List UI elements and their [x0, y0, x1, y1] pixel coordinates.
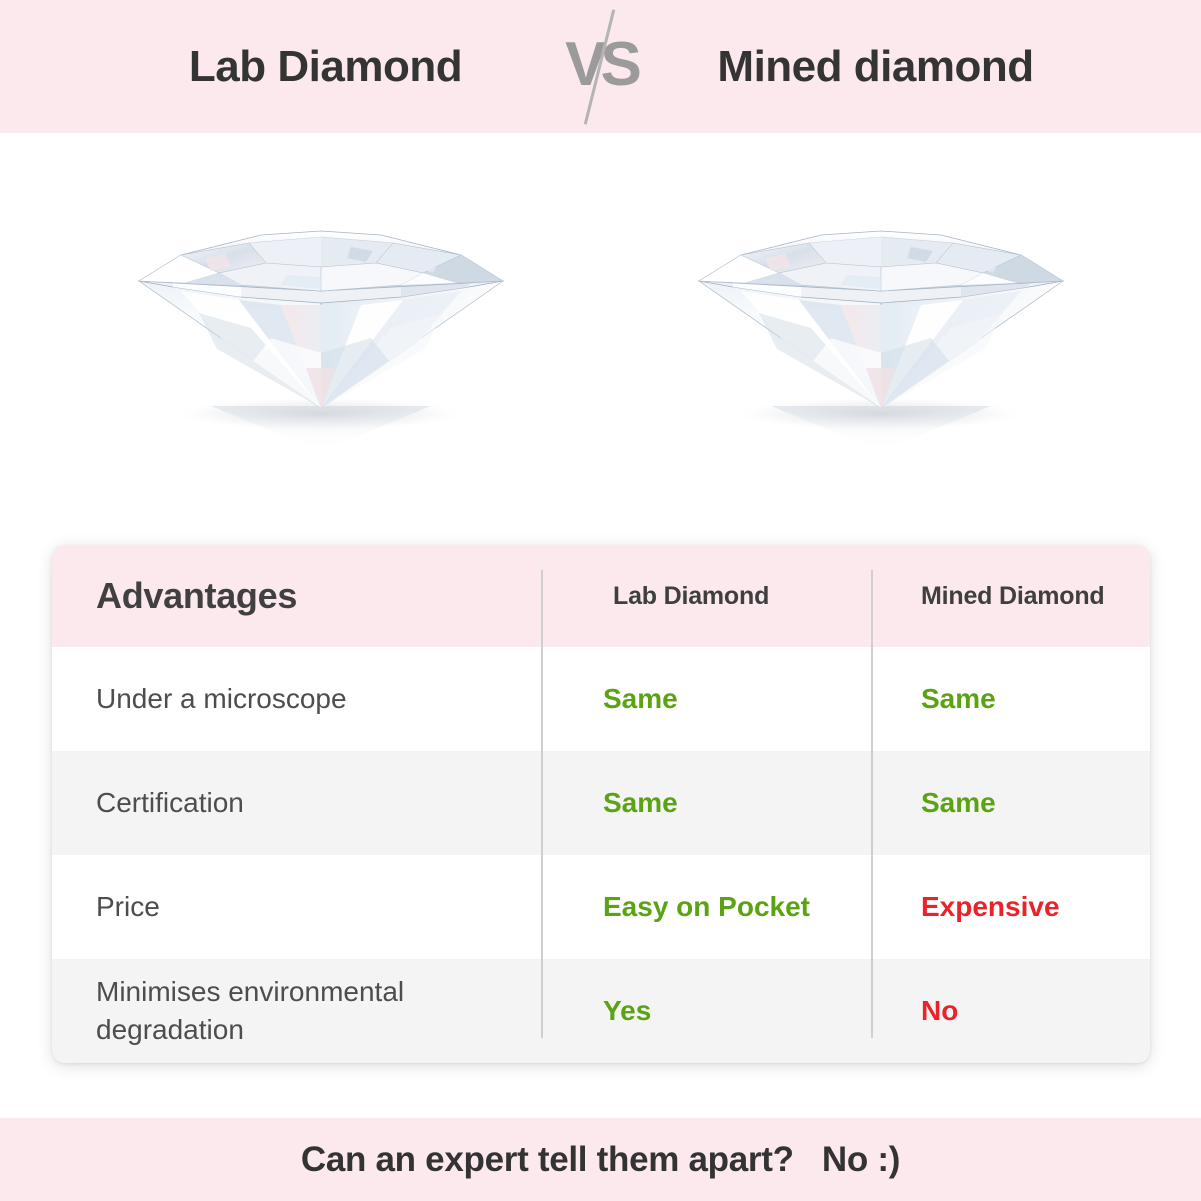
row-lab-value-cell: Same — [541, 787, 871, 819]
table-row: Certification Same Same — [52, 751, 1150, 855]
row-mined-value-cell: Expensive — [871, 891, 1150, 923]
mined-diamond-image-cell — [601, 133, 1161, 533]
page-footer-band: Can an expert tell them apart? No :) — [0, 1118, 1201, 1201]
header-cell-advantages: Advantages — [52, 575, 541, 617]
table-row: Under a microscope Same Same — [52, 647, 1150, 751]
row-label: Price — [96, 891, 160, 922]
row-lab-value: Same — [603, 787, 678, 818]
lab-diamond-title: Lab Diamond — [111, 42, 541, 92]
mined-diamond-icon — [681, 163, 1081, 453]
table-row: Price Easy on Pocket Expensive — [52, 855, 1150, 959]
header-label-lab-diamond: Lab Diamond — [603, 582, 769, 610]
footer-question: Can an expert tell them apart? No :) — [301, 1140, 900, 1180]
row-label: Under a microscope — [96, 683, 347, 714]
row-lab-value: Same — [603, 683, 678, 714]
row-mined-value-cell: No — [871, 995, 1150, 1027]
row-mined-value: Same — [921, 683, 996, 714]
row-label: Certification — [96, 787, 244, 818]
header-cell-lab-diamond: Lab Diamond — [541, 582, 871, 611]
header-label-advantages: Advantages — [96, 575, 297, 616]
row-lab-value: Easy on Pocket — [603, 891, 810, 922]
header-cell-mined-diamond: Mined Diamond — [871, 582, 1150, 611]
page-header-band: Lab Diamond VS Mined diamond — [0, 0, 1201, 133]
row-mined-value-cell: Same — [871, 787, 1150, 819]
row-label-cell: Minimises environmental degradation — [52, 973, 541, 1049]
table-header-row: Advantages Lab Diamond Mined Diamond — [52, 545, 1150, 647]
row-label-cell: Price — [52, 888, 541, 926]
row-mined-value-cell: Same — [871, 683, 1150, 715]
row-mined-value: Same — [921, 787, 996, 818]
row-mined-value: Expensive — [921, 891, 1060, 922]
vs-badge: VS — [541, 0, 661, 133]
column-divider-2 — [871, 570, 873, 1038]
lab-diamond-image-cell — [41, 133, 601, 533]
comparison-table-card: Advantages Lab Diamond Mined Diamond Und… — [52, 545, 1150, 1063]
row-lab-value-cell: Easy on Pocket — [541, 891, 871, 923]
column-divider-1 — [541, 570, 543, 1038]
row-label: Minimises environmental degradation — [96, 976, 404, 1045]
diamond-showcase — [0, 133, 1201, 533]
row-mined-value: No — [921, 995, 958, 1026]
row-lab-value-cell: Yes — [541, 995, 871, 1027]
mined-diamond-title: Mined diamond — [661, 42, 1091, 92]
row-label-cell: Under a microscope — [52, 680, 541, 718]
row-label-cell: Certification — [52, 784, 541, 822]
row-lab-value-cell: Same — [541, 683, 871, 715]
lab-diamond-icon — [121, 163, 521, 453]
row-lab-value: Yes — [603, 995, 651, 1026]
table-row: Minimises environmental degradation Yes … — [52, 959, 1150, 1063]
header-label-mined-diamond: Mined Diamond — [921, 582, 1105, 610]
